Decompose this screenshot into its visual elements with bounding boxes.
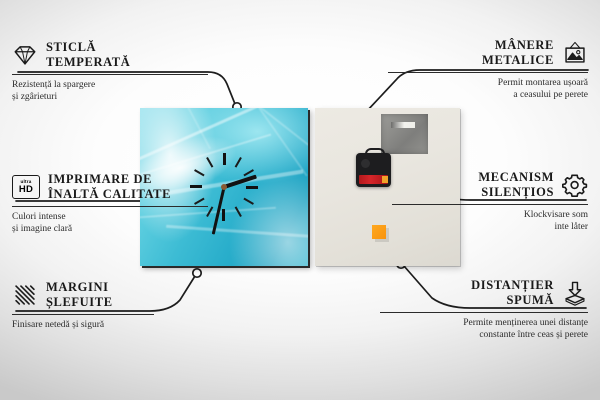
feature-title-line2: TEMPERATĂ: [46, 55, 130, 70]
feature-imprimare-calitate: ultra HD IMPRIMARE DE ÎNALTĂ CALITATE Cu…: [12, 172, 222, 236]
gear-icon: [562, 172, 588, 198]
feature-header: MECANISM SILENȚIOS: [378, 170, 588, 201]
feature-manere-metalice: MÂNERE METALICE Permit montarea ușoară a…: [378, 38, 588, 102]
feature-divider: [380, 312, 588, 313]
feature-header: MARGINI ȘLEFUITE: [12, 280, 222, 311]
feature-mecanism-silentios: MECANISM SILENȚIOS Klockvisare som inte …: [378, 170, 588, 234]
feature-desc-line2: și imagine clară: [12, 223, 222, 236]
feature-divider: [12, 314, 154, 315]
feature-description: Rezistență la spargere și zgârieturi: [12, 79, 222, 104]
feature-title: MARGINI ȘLEFUITE: [46, 280, 113, 311]
feature-divider: [392, 204, 588, 205]
hanger-slot: [391, 122, 415, 128]
ultra-hd-badge-icon: ultra HD: [12, 175, 40, 199]
feature-desc-line1: Finisare netedă și sigură: [12, 319, 222, 332]
feature-title-line1: DISTANȚIER: [471, 278, 554, 293]
feature-header: ultra HD IMPRIMARE DE ÎNALTĂ CALITATE: [12, 172, 222, 203]
feature-title-line2: ÎNALTĂ CALITATE: [48, 187, 171, 202]
diamond-icon: [12, 42, 38, 68]
feature-header: DISTANȚIER SPUMĂ: [378, 278, 588, 309]
arrow-press-pad-icon: [562, 280, 588, 306]
feature-divider: [388, 72, 588, 73]
feature-description: Permit montarea ușoară a ceasului pe per…: [378, 77, 588, 102]
feature-title-line2: SPUMĂ: [471, 293, 554, 308]
feature-desc-line1: Culori intense: [12, 211, 222, 224]
feature-title: IMPRIMARE DE ÎNALTĂ CALITATE: [48, 172, 171, 203]
feature-title: MECANISM SILENȚIOS: [478, 170, 554, 201]
mechanism-hook: [365, 148, 385, 158]
feature-desc-line2: a ceasului pe perete: [378, 89, 588, 102]
infographic-canvas: STICLĂ TEMPERATĂ Rezistență la spargere …: [0, 0, 600, 400]
picture-frame-hanging-icon: [562, 40, 588, 66]
feature-title-line2: ȘLEFUITE: [46, 295, 113, 310]
feature-desc-line1: Klockvisare som: [378, 209, 588, 222]
feature-sticla-temperata: STICLĂ TEMPERATĂ Rezistență la spargere …: [12, 40, 222, 104]
feature-description: Finisare netedă și sigură: [12, 319, 222, 332]
feature-description: Culori intense și imagine clară: [12, 211, 222, 236]
feature-desc-line1: Rezistență la spargere: [12, 79, 222, 92]
feature-desc-line2: inte låter: [378, 221, 588, 234]
feature-title: DISTANȚIER SPUMĂ: [471, 278, 554, 309]
feature-divider: [12, 206, 208, 207]
beveled-edge-icon: [12, 282, 38, 308]
feature-title-line1: STICLĂ: [46, 40, 130, 55]
feature-title-line1: MÂNERE: [482, 38, 554, 53]
feature-margini-slefuite: MARGINI ȘLEFUITE Finisare netedă și sigu…: [12, 280, 222, 331]
feature-desc-line2: și zgârieturi: [12, 91, 222, 104]
feature-distantier-spuma: DISTANȚIER SPUMĂ Permite menținerea unei…: [378, 278, 588, 342]
feature-desc-line1: Permit montarea ușoară: [378, 77, 588, 90]
feature-title-line2: METALICE: [482, 53, 554, 68]
metal-hanger-plate: [381, 114, 428, 154]
feature-title-line1: IMPRIMARE DE: [48, 172, 171, 187]
feature-title: STICLĂ TEMPERATĂ: [46, 40, 130, 71]
feature-divider: [12, 74, 208, 75]
feature-header: STICLĂ TEMPERATĂ: [12, 40, 222, 71]
hd-label: HD: [19, 185, 33, 195]
feature-description: Klockvisare som inte låter: [378, 209, 588, 234]
mechanism-setting-dial: [361, 159, 370, 168]
connector-dot-margini: [193, 269, 201, 277]
feature-title-line1: MARGINI: [46, 280, 113, 295]
feature-title-line1: MECANISM: [478, 170, 554, 185]
feature-title: MÂNERE METALICE: [482, 38, 554, 69]
feature-description: Permite menținerea unei distanțe constan…: [378, 317, 588, 342]
feature-header: MÂNERE METALICE: [378, 38, 588, 69]
feature-desc-line2: constante între ceas și perete: [378, 329, 588, 342]
feature-title-line2: SILENȚIOS: [478, 185, 554, 200]
feature-desc-line1: Permite menținerea unei distanțe: [378, 317, 588, 330]
